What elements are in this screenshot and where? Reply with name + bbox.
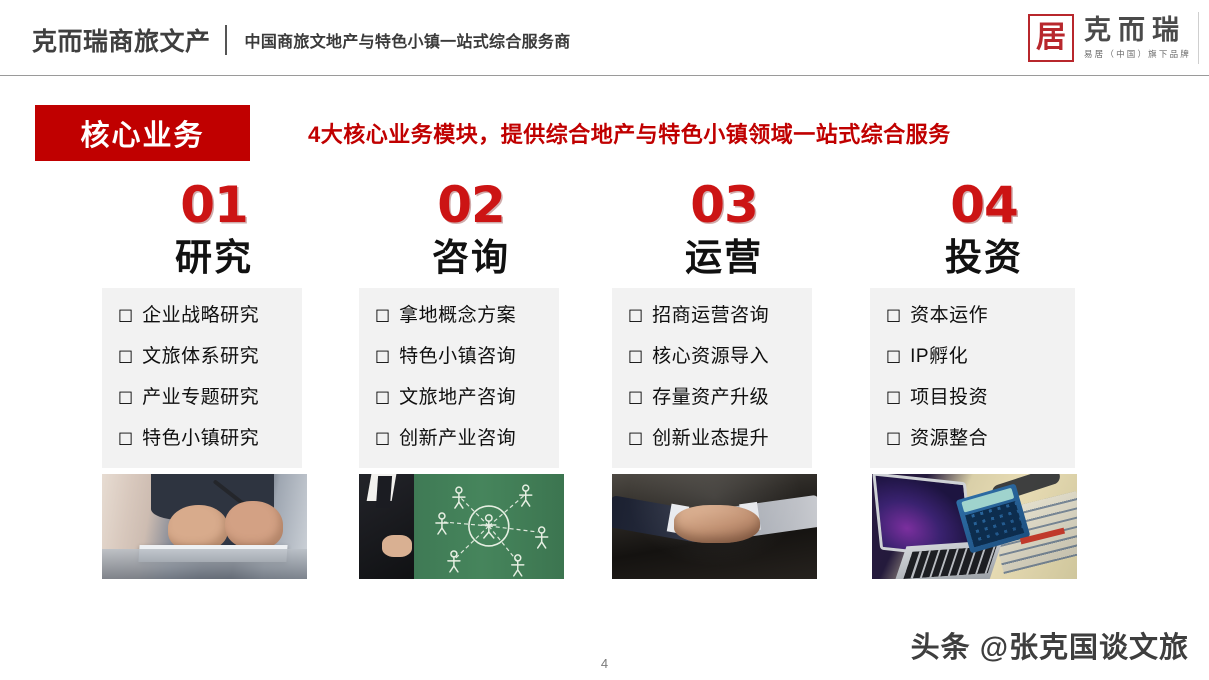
page-header: 克而瑞商旅文产 中国商旅文地产与特色小镇一站式综合服务商 居 克而瑞 易居（中国…	[0, 0, 1209, 77]
photo-shape	[102, 549, 307, 578]
chalk-network-diagram-icon	[414, 474, 564, 579]
square-bullet-icon: □	[118, 307, 133, 323]
square-bullet-icon: □	[628, 430, 643, 446]
list-item: □ 资源整合	[870, 429, 1075, 448]
square-bullet-icon: □	[118, 348, 133, 364]
photo-signing-document	[102, 474, 307, 579]
square-bullet-icon: □	[118, 430, 133, 446]
module-number: 04	[858, 180, 1110, 230]
header-bottom-rule	[0, 75, 1209, 76]
module-item-list: □ 招商运营咨询 □ 核心资源导入 □ 存量资产升级 □ 创新业态提升	[612, 288, 812, 468]
list-item: □ 产业专题研究	[102, 388, 302, 407]
list-item: □ 存量资产升级	[612, 388, 812, 407]
photo-shape	[612, 474, 817, 579]
square-bullet-icon: □	[886, 430, 901, 446]
watermark-text: 头条 @张克国谈文旅	[911, 624, 1189, 666]
list-item: □ 拿地概念方案	[359, 306, 559, 325]
square-bullet-icon: □	[886, 348, 901, 364]
list-item: □ 企业战略研究	[102, 306, 302, 325]
square-bullet-icon: □	[886, 307, 901, 323]
list-item: □ 特色小镇研究	[102, 429, 302, 448]
module-number: 02	[345, 180, 597, 230]
header-brand-group: 克而瑞商旅文产 中国商旅文地产与特色小镇一站式综合服务商	[32, 22, 571, 58]
list-item: □ 项目投资	[870, 388, 1075, 407]
list-item-label: 项目投资	[910, 388, 988, 407]
module-column: 03 运营 □ 招商运营咨询 □ 核心资源导入 □ 存量资产升级 □ 创新业态提…	[598, 180, 850, 579]
brand-separator	[225, 25, 227, 55]
list-item: □ 文旅体系研究	[102, 347, 302, 366]
list-item-label: 资本运作	[910, 306, 988, 325]
square-bullet-icon: □	[375, 348, 390, 364]
logo-vertical-divider	[1198, 12, 1199, 64]
list-item-label: 产业专题研究	[142, 388, 259, 407]
module-item-list: □ 资本运作 □ IP孵化 □ 项目投资 □ 资源整合	[870, 288, 1075, 468]
list-item-label: 特色小镇咨询	[399, 347, 516, 366]
list-item: □ 招商运营咨询	[612, 306, 812, 325]
list-item: □ IP孵化	[870, 347, 1075, 366]
module-number: 01	[88, 180, 340, 230]
business-modules-grid: 01 研究 □ 企业战略研究 □ 文旅体系研究 □ 产业专题研究 □ 特色小镇研…	[0, 180, 1209, 620]
company-logo: 居 克而瑞 易居（中国）旗下品牌	[1028, 14, 1191, 62]
list-item-label: 特色小镇研究	[142, 429, 259, 448]
square-bullet-icon: □	[375, 389, 390, 405]
module-title: 运营	[598, 239, 850, 278]
list-item: □ 核心资源导入	[612, 347, 812, 366]
square-bullet-icon: □	[375, 307, 390, 323]
list-item-label: 招商运营咨询	[652, 306, 769, 325]
seal-stamp-icon: 居	[1028, 14, 1074, 62]
photo-business-handshake	[612, 474, 817, 579]
square-bullet-icon: □	[375, 430, 390, 446]
list-item-label: 资源整合	[910, 429, 988, 448]
square-bullet-icon: □	[628, 348, 643, 364]
section-badge-label: 核心业务	[80, 112, 204, 154]
module-title: 研究	[88, 239, 340, 278]
module-title: 咨询	[345, 239, 597, 278]
photo-businessman-chalkboard-network	[359, 474, 564, 579]
logo-company-name: 克而瑞	[1084, 16, 1191, 44]
logo-tagline: 易居（中国）旗下品牌	[1084, 48, 1191, 60]
photo-shape	[376, 476, 393, 508]
photo-shape	[225, 501, 283, 549]
photo-laptop-calculator-finance	[872, 474, 1077, 579]
module-item-list: □ 拿地概念方案 □ 特色小镇咨询 □ 文旅地产咨询 □ 创新产业咨询	[359, 288, 559, 468]
list-item-label: 企业战略研究	[142, 306, 259, 325]
list-item-label: 核心资源导入	[652, 347, 769, 366]
brand-subtitle: 中国商旅文地产与特色小镇一站式综合服务商	[245, 28, 571, 52]
brand-main-title: 克而瑞商旅文产	[32, 22, 211, 58]
list-item: □ 创新产业咨询	[359, 429, 559, 448]
module-column: 04 投资 □ 资本运作 □ IP孵化 □ 项目投资 □ 资源整合	[858, 180, 1110, 579]
square-bullet-icon: □	[886, 389, 901, 405]
list-item-label: 文旅体系研究	[142, 347, 259, 366]
section-title-row: 核心业务 4大核心业务模块，提供综合地产与特色小镇领域一站式综合服务	[0, 105, 1209, 163]
list-item-label: 拿地概念方案	[399, 306, 516, 325]
list-item-label: 存量资产升级	[652, 388, 769, 407]
list-item-label: 文旅地产咨询	[399, 388, 516, 407]
list-item-label: 创新业态提升	[652, 429, 769, 448]
section-badge: 核心业务	[35, 105, 250, 161]
list-item: □ 特色小镇咨询	[359, 347, 559, 366]
list-item: □ 资本运作	[870, 306, 1075, 325]
module-column: 01 研究 □ 企业战略研究 □ 文旅体系研究 □ 产业专题研究 □ 特色小镇研…	[88, 180, 340, 579]
square-bullet-icon: □	[628, 307, 643, 323]
list-item-label: IP孵化	[910, 347, 968, 366]
section-headline: 4大核心业务模块，提供综合地产与特色小镇领域一站式综合服务	[308, 117, 951, 149]
module-number: 03	[598, 180, 850, 230]
module-column: 02 咨询 □ 拿地概念方案 □ 特色小镇咨询 □ 文旅地产咨询 □ 创新产业咨…	[345, 180, 597, 579]
list-item: □ 创新业态提升	[612, 429, 812, 448]
module-item-list: □ 企业战略研究 □ 文旅体系研究 □ 产业专题研究 □ 特色小镇研究	[102, 288, 302, 468]
seal-character: 居	[1036, 23, 1066, 53]
photo-shape	[382, 535, 412, 557]
list-item: □ 文旅地产咨询	[359, 388, 559, 407]
logo-text-block: 克而瑞 易居（中国）旗下品牌	[1084, 16, 1191, 59]
module-title: 投资	[858, 239, 1110, 278]
list-item-label: 创新产业咨询	[399, 429, 516, 448]
square-bullet-icon: □	[118, 389, 133, 405]
square-bullet-icon: □	[628, 389, 643, 405]
